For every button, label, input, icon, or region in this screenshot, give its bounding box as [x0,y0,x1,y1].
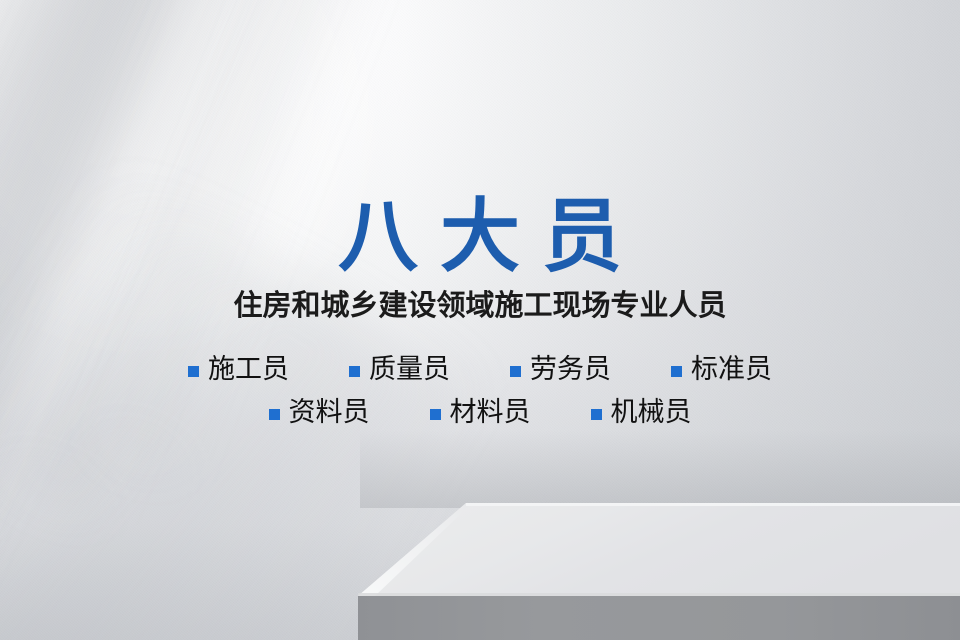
role-item-cailiaoyuan[interactable]: 材料员 [430,397,531,429]
role-list: 施工员 质量员 劳务员 标准员 资料员 [0,350,960,433]
square-bullet-icon [349,366,360,377]
square-bullet-icon [591,409,602,420]
role-row-1: 施工员 质量员 劳务员 标准员 [0,350,960,390]
square-bullet-icon [269,409,280,420]
square-bullet-icon [188,366,199,377]
role-row-2: 资料员 材料员 机械员 [0,393,960,433]
poster-canvas: 八大员 住房和城乡建设领域施工现场专业人员 施工员 质量员 劳务员 [0,0,960,640]
role-label: 劳务员 [530,354,611,386]
role-label: 标准员 [691,354,772,386]
role-label: 资料员 [289,397,370,429]
page-title: 八大员 [0,192,960,282]
role-item-jixieyuan[interactable]: 机械员 [591,397,692,429]
square-bullet-icon [430,409,441,420]
role-item-biaozhunyuan[interactable]: 标准员 [671,354,772,386]
role-label: 施工员 [208,354,289,386]
role-label: 质量员 [369,354,450,386]
role-label: 机械员 [611,397,692,429]
square-bullet-icon [510,366,521,377]
page-subtitle: 住房和城乡建设领域施工现场专业人员 [0,287,960,323]
role-label: 材料员 [450,397,531,429]
square-bullet-icon [671,366,682,377]
role-item-laowuyuan[interactable]: 劳务员 [510,354,611,386]
role-item-shigongyuan[interactable]: 施工员 [188,354,289,386]
role-item-zhiliangyuan[interactable]: 质量员 [349,354,450,386]
role-item-ziliaoyuan[interactable]: 资料员 [269,397,370,429]
